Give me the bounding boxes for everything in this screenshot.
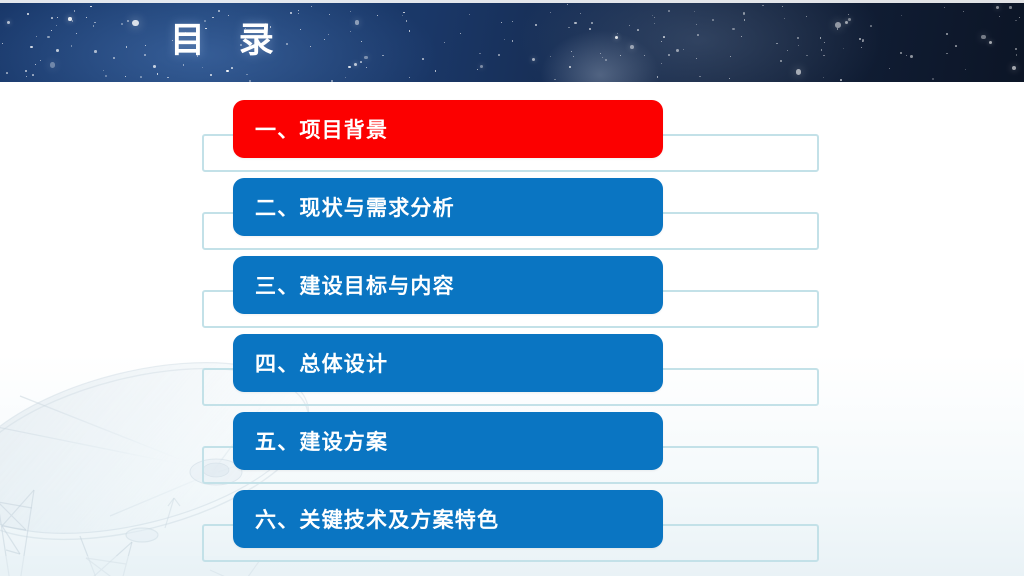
toc-item-2[interactable]: 二、现状与需求分析: [233, 178, 663, 236]
toc-row: 四、总体设计: [0, 334, 1024, 412]
toc-row: 五、建设方案: [0, 412, 1024, 490]
toc-item-6[interactable]: 六、关键技术及方案特色: [233, 490, 663, 548]
toc-item-3[interactable]: 三、建设目标与内容: [233, 256, 663, 314]
starfield-decoration: [0, 0, 1024, 82]
header-top-rule: [0, 0, 1024, 3]
toc-item-label: 六、关键技术及方案特色: [233, 504, 499, 534]
toc-item-label: 一、项目背景: [233, 114, 388, 144]
toc-item-label: 五、建设方案: [233, 426, 388, 456]
slide-header-banner: 目 录: [0, 0, 1024, 82]
toc-item-label: 三、建设目标与内容: [233, 270, 455, 300]
toc-row: 二、现状与需求分析: [0, 178, 1024, 256]
table-of-contents-list: 一、项目背景二、现状与需求分析三、建设目标与内容四、总体设计五、建设方案六、关键…: [0, 82, 1024, 576]
toc-item-4[interactable]: 四、总体设计: [233, 334, 663, 392]
toc-row: 三、建设目标与内容: [0, 256, 1024, 334]
toc-item-label: 二、现状与需求分析: [233, 192, 455, 222]
toc-row: 六、关键技术及方案特色: [0, 490, 1024, 568]
toc-item-5[interactable]: 五、建设方案: [233, 412, 663, 470]
page-title: 目 录: [170, 18, 286, 64]
toc-item-1[interactable]: 一、项目背景: [233, 100, 663, 158]
toc-item-label: 四、总体设计: [233, 348, 388, 378]
presentation-slide: 目 录: [0, 0, 1024, 576]
toc-row: 一、项目背景: [0, 100, 1024, 178]
